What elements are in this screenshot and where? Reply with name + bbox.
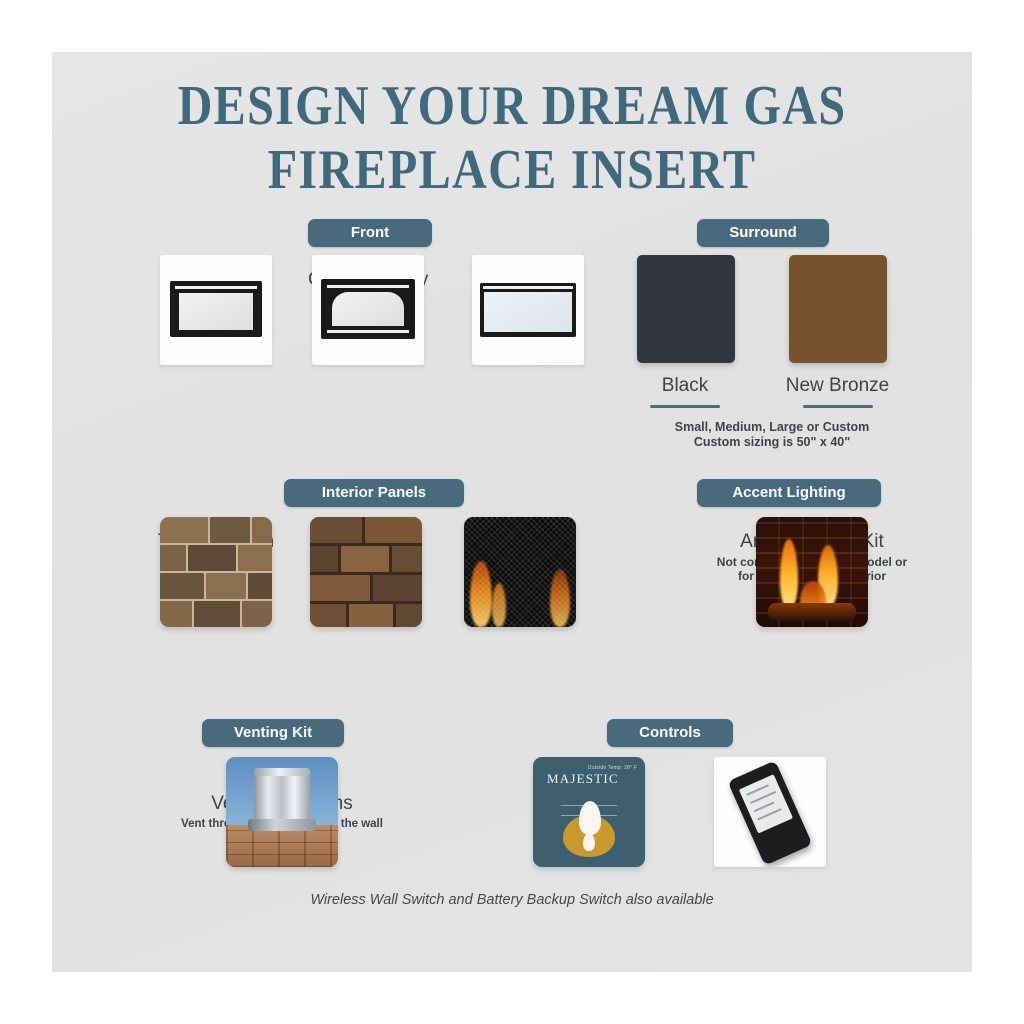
remote-screen-line <box>754 802 775 812</box>
option-reflective-glass-liner[interactable]: Reflective Glass Liner Black <box>460 517 580 603</box>
option-inside-fit-front[interactable]: Inside Fit Front *Black only <box>472 255 584 340</box>
option-wifi-capability[interactable]: MAJESTIC Outside Temp: 28° F Wi-Fi Capab… <box>504 757 674 826</box>
surround-size-note: Small, Medium, Large or Custom Custom si… <box>612 418 932 450</box>
surround-size-note-text: Small, Medium, Large or Custom Custom si… <box>612 420 932 450</box>
badge-interior-panels[interactable]: Interior Panels <box>284 479 464 507</box>
outside-temp-label: Outside Temp: 28° F <box>588 765 637 771</box>
badge-venting-kit[interactable]: Venting Kit <box>202 719 344 747</box>
option-complete-venting-systems[interactable]: Complete Venting Systems Vent through ch… <box>152 757 412 831</box>
option-tavern-brown-brick[interactable]: Tavern Brown Brick <box>156 517 276 586</box>
brick-texture <box>160 517 272 627</box>
option-clean-screen-front[interactable]: Clean Screen Front *Black and New Bronze <box>160 255 272 354</box>
cottage-red-brick-image <box>310 517 422 627</box>
option-surround-black[interactable]: Black <box>629 255 741 408</box>
tavern-brown-brick-image <box>160 517 272 627</box>
divider <box>803 405 873 408</box>
badge-surround[interactable]: Surround <box>697 219 829 247</box>
option-contemporary-arch-front[interactable]: Contemporary Arch Front *Black and New B… <box>308 255 428 354</box>
reflective-glass-liner-image <box>464 517 576 627</box>
option-surround-new-bronze[interactable]: New Bronze <box>770 255 905 408</box>
ambient-light-kit-image <box>756 517 868 627</box>
footer-note: Wireless Wall Switch and Battery Backup … <box>52 892 972 908</box>
contemporary-arch-front-image <box>312 255 424 365</box>
surround-black-caption: Black <box>629 375 741 397</box>
touch-screen-remote-image <box>714 757 826 867</box>
badge-controls[interactable]: Controls <box>607 719 733 747</box>
flame-logo-inner <box>583 833 595 851</box>
venting-systems-image <box>226 757 338 867</box>
option-ambient-light-kit[interactable]: Ambient Light Kit Not compatible with 25… <box>682 517 942 594</box>
majestic-brand-label: MAJESTIC <box>547 771 619 787</box>
brick-texture <box>310 517 422 627</box>
divider <box>650 405 720 408</box>
brick-chimney <box>226 825 338 867</box>
new-bronze-swatch <box>789 255 887 363</box>
flame-logo-highlight <box>579 801 601 835</box>
ember-bed <box>768 603 856 621</box>
badge-accent-lighting[interactable]: Accent Lighting <box>697 479 881 507</box>
badge-front[interactable]: Front <box>308 219 432 247</box>
remote-screen-line <box>757 808 781 820</box>
page-title: DESIGN YOUR DREAM GAS FIREPLACE INSERT <box>116 74 907 202</box>
black-swatch <box>637 255 735 363</box>
page-title-line1: DESIGN YOUR DREAM GAS <box>178 75 847 137</box>
glass-mesh-overlay <box>464 517 576 627</box>
remote-device <box>728 760 813 865</box>
option-touch-screen-remote[interactable]: Touch screen Remote <box>680 757 860 826</box>
clean-screen-front-image <box>160 255 272 365</box>
page-title-line2: FIREPLACE INSERT <box>116 138 907 202</box>
surround-new-bronze-caption: New Bronze <box>770 375 905 397</box>
remote-screen <box>739 774 793 833</box>
option-cottage-red-brick[interactable]: Cottage Red Brick <box>310 517 420 586</box>
chimney-cap-top <box>254 768 310 776</box>
wifi-control-panel-image: MAJESTIC Outside Temp: 28° F <box>533 757 645 867</box>
remote-screen-line <box>746 784 769 795</box>
chimney-cap <box>254 771 310 823</box>
chimney-cap-base <box>248 819 316 831</box>
inside-fit-front-image <box>472 255 584 365</box>
infographic-panel: DESIGN YOUR DREAM GAS FIREPLACE INSERT F… <box>52 52 972 972</box>
